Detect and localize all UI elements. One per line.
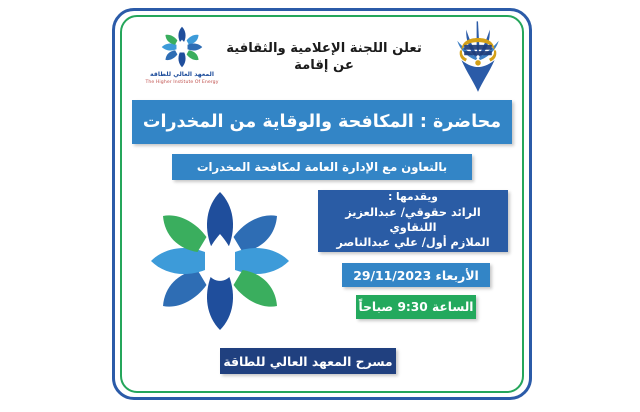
poster-header: المعهد العالي للطاقة The Higher Institut… — [124, 18, 520, 96]
speaker-name-1: الرائد حقوقي/ عبدالعزيز اللنقاوي — [326, 206, 500, 236]
event-time-badge: الساعة 9:30 صباحاً — [356, 295, 476, 319]
energy-institute-pinwheel-large-icon — [144, 186, 296, 336]
speaker-name-2: الملازم أول/ علي عبدالناصر — [336, 236, 489, 251]
institute-logo-caption-en: The Higher Institute Of Energy — [136, 80, 228, 85]
lecture-title: محاضرة : المكافحة والوقاية من المخدرات — [132, 100, 512, 144]
paaet-logo-icon — [442, 20, 514, 96]
poster-canvas: المعهد العالي للطاقة The Higher Institut… — [0, 0, 640, 412]
event-date-badge: الأربعاء 29/11/2023 — [342, 263, 490, 287]
announcement-text: تعلن اللجنة الإعلامية والثقافية عن إقامة — [214, 40, 434, 74]
energy-institute-pinwheel-icon — [158, 24, 206, 70]
collaboration-subtitle: بالتعاون مع الإدارة العامة لمكافحة المخد… — [172, 154, 472, 180]
speakers-block: ويقدمها : الرائد حقوقي/ عبدالعزيز اللنقا… — [318, 190, 508, 252]
speakers-lead-in: ويقدمها : — [388, 191, 438, 205]
poster-content: المعهد العالي للطاقة The Higher Institut… — [124, 18, 520, 390]
event-venue-badge: مسرح المعهد العالي للطاقة — [220, 348, 396, 374]
